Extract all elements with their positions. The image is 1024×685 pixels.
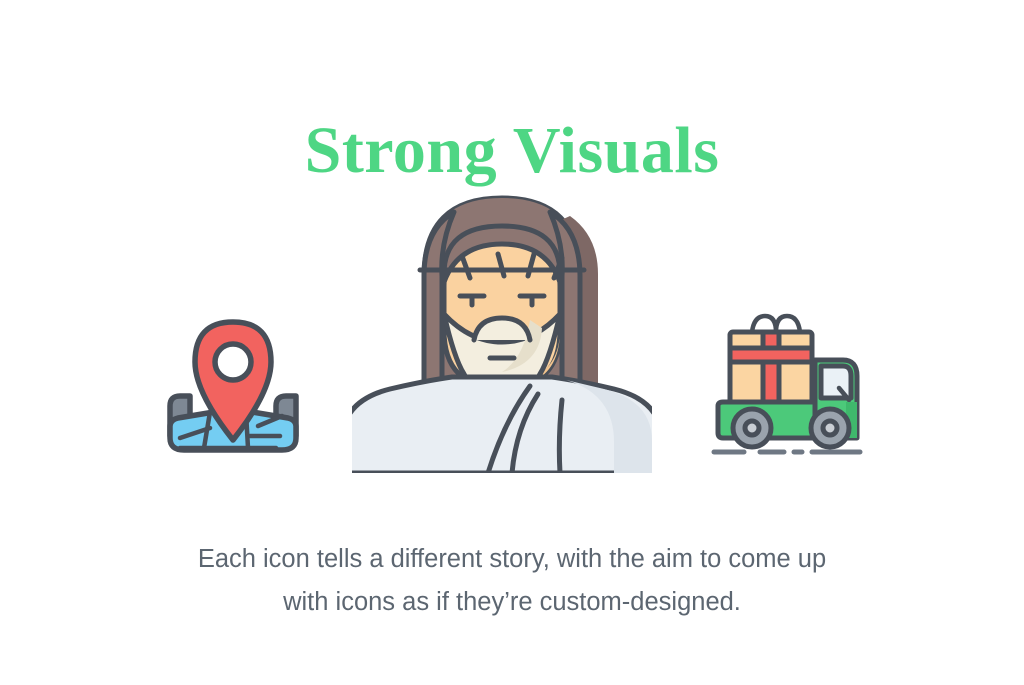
- bearded-figure-icon: [352, 188, 652, 473]
- moustache: [474, 318, 530, 340]
- gift-ribbon-horizontal-icon: [730, 348, 812, 362]
- map-location-icon: [150, 314, 316, 474]
- truck-window-icon: [821, 366, 851, 398]
- gift-ribbon-vertical-icon: [763, 332, 779, 406]
- caption-line-2: with icons as if they’re custom-designed…: [140, 581, 884, 624]
- icons-row: [0, 188, 1024, 488]
- icon-slot-person: [352, 188, 672, 488]
- robe-fold-3: [559, 400, 562, 473]
- truck-hub-front: [823, 421, 837, 435]
- caption-line-1: Each icon tells a different story, with …: [140, 538, 884, 581]
- page-title: Strong Visuals: [0, 116, 1024, 185]
- slide-canvas: Strong Visuals: [0, 0, 1024, 685]
- map-pin-hole-icon: [215, 344, 251, 380]
- caption-text: Each icon tells a different story, with …: [140, 538, 884, 624]
- icon-slot-map: [138, 188, 328, 488]
- delivery-truck-icon: [708, 300, 870, 460]
- icon-slot-truck: [700, 188, 880, 488]
- truck-hub-rear: [745, 421, 759, 435]
